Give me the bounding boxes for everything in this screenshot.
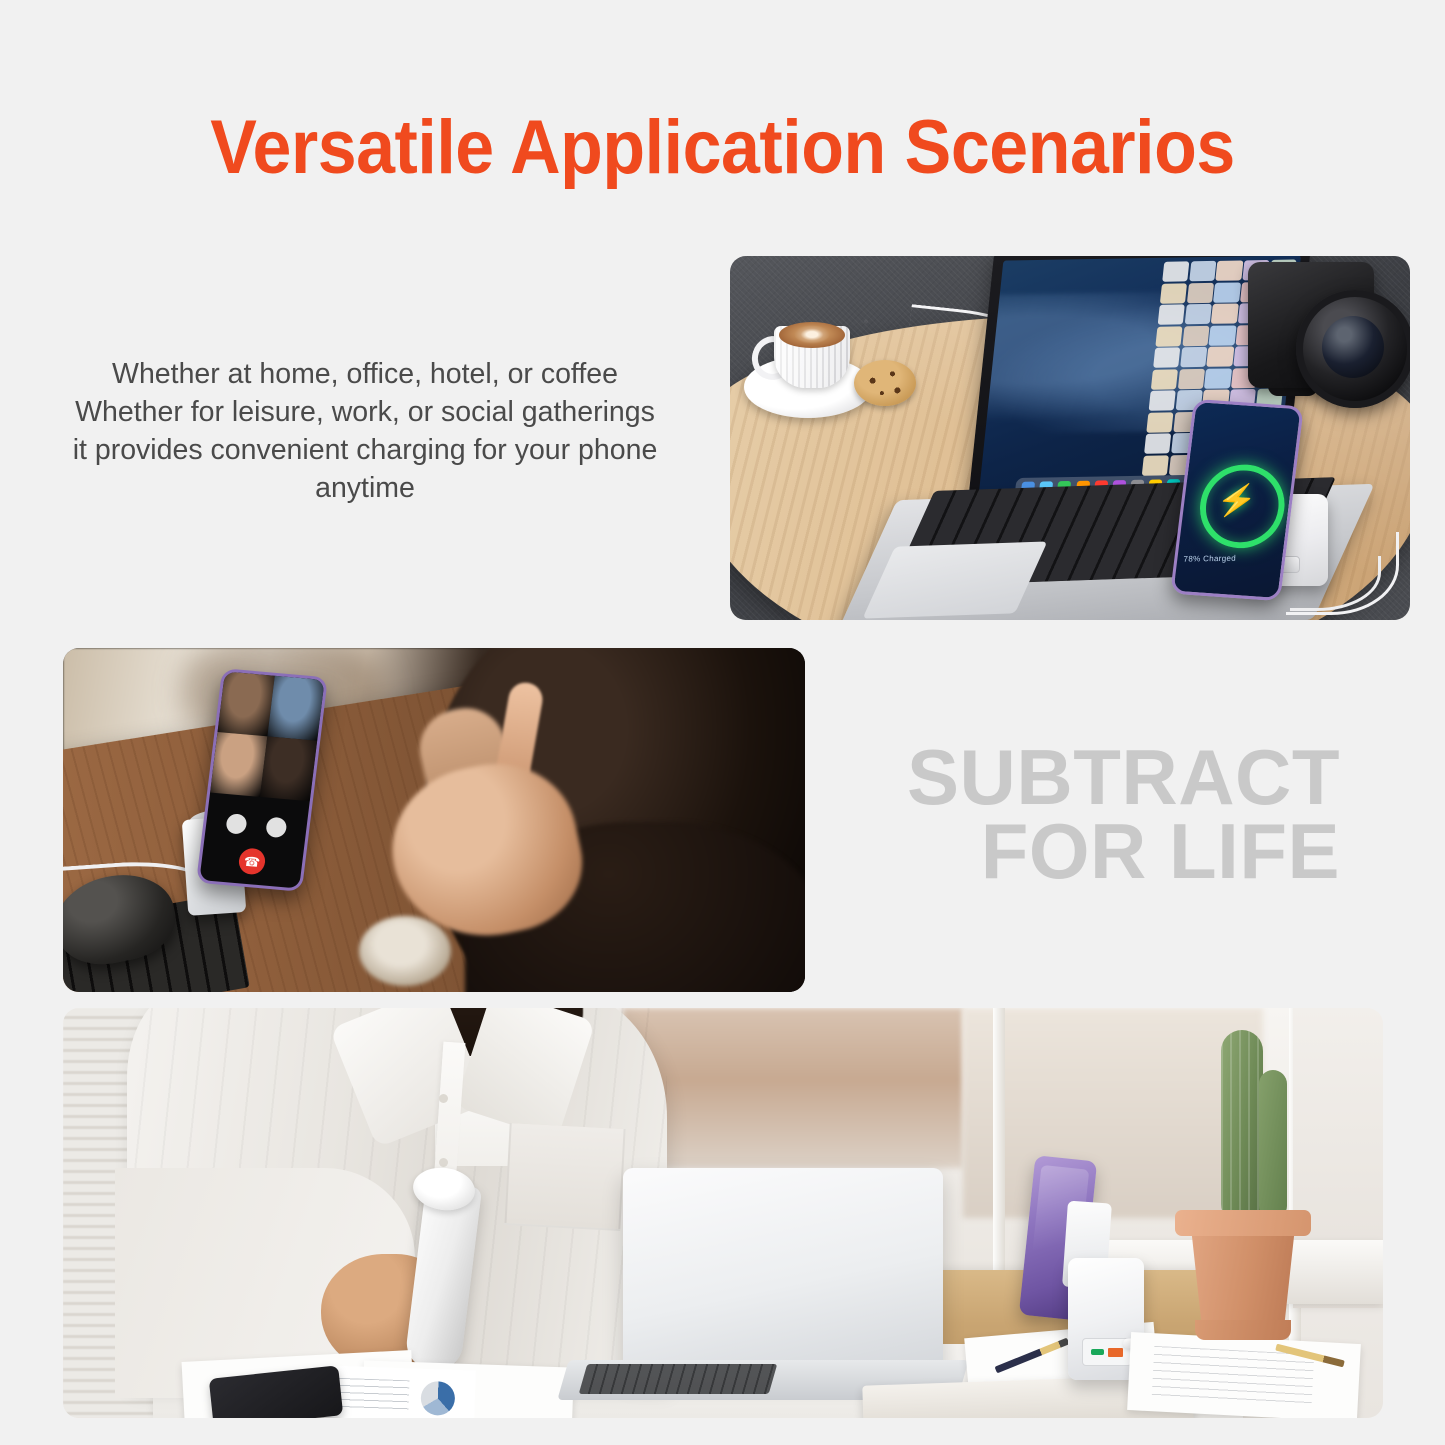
desktop-file-icon	[1207, 346, 1234, 366]
usb-a-port-icon	[1108, 1348, 1123, 1357]
desktop-file-icon	[1209, 325, 1236, 345]
desktop-file-icon	[1146, 412, 1173, 432]
desktop-file-icon	[1211, 303, 1238, 323]
marketing-page: Versatile Application Scenarios Whether …	[0, 0, 1445, 1445]
desktop-file-icon	[1158, 304, 1185, 324]
scene-photo-coffee: ⚡ 78% Charged coffee	[730, 256, 1410, 620]
description-line-3: it provides convenient charging for your…	[20, 431, 710, 469]
description-line-2: Whether for leisure, work, or social gat…	[20, 393, 710, 431]
laptop-lid	[623, 1168, 943, 1374]
outside-sky-view	[963, 1008, 1263, 1218]
desktop-file-icon	[1151, 369, 1178, 389]
camera-lens	[1296, 290, 1410, 408]
desktop-file-icon	[1144, 433, 1171, 453]
paper-text-lines	[1152, 1346, 1314, 1404]
chart-printout	[324, 1365, 476, 1418]
cactus-arm	[1259, 1070, 1287, 1220]
terracotta-pot	[1183, 1220, 1303, 1330]
shirt-button-2	[439, 1158, 448, 1167]
desktop-file-icon	[1178, 368, 1205, 388]
description-line-4: anytime	[20, 469, 710, 507]
pot-saucer	[1195, 1320, 1291, 1340]
latte-art	[794, 325, 830, 344]
desktop-file-icon	[1184, 304, 1211, 324]
video-call-participant-grid	[210, 671, 325, 801]
end-call-button-icon[interactable]: ☎	[237, 847, 266, 875]
call-controls	[205, 806, 308, 844]
usb-c-port-icon	[1091, 1349, 1104, 1355]
shirt-pocket	[504, 1123, 625, 1231]
desktop-file-icon	[1187, 282, 1214, 302]
desktop-file-icon	[1180, 347, 1207, 367]
call-participant-tile	[260, 736, 317, 801]
desktop-file-icon	[1160, 283, 1187, 303]
page-title: Versatile Application Scenarios	[58, 104, 1387, 191]
slogan-line-2: FOR LIFE	[830, 814, 1340, 888]
pot-rim	[1175, 1210, 1311, 1236]
camera-button-icon[interactable]	[265, 817, 287, 839]
mute-button-icon[interactable]	[225, 813, 247, 835]
outside-building-view	[623, 1008, 963, 1168]
scene-photo-homes: ☎ Homes	[63, 648, 805, 992]
desktop-file-icon	[1216, 260, 1243, 280]
desktop-file-icon	[1155, 326, 1182, 346]
desktop-file-icon	[1153, 347, 1180, 367]
desktop-file-icon	[1142, 455, 1169, 475]
call-participant-tile	[218, 671, 275, 736]
lightning-bolt-icon: ⚡	[1215, 483, 1259, 518]
slogan-text: SUBTRACT FOR LIFE	[830, 740, 1340, 888]
desktop-file-icon	[1213, 282, 1240, 302]
shirt-button-1	[439, 1094, 448, 1103]
charge-status-text: 78% Charged	[1183, 554, 1236, 564]
desktop-file-icon	[1182, 325, 1209, 345]
call-participant-tile	[210, 732, 267, 797]
desktop-file-icon	[1189, 261, 1216, 281]
scene-photo-offices: Offices	[63, 1008, 1383, 1418]
cactus-plant	[1221, 1030, 1263, 1225]
description-line-1: Whether at home, office, hotel, or coffe…	[20, 355, 710, 393]
call-participant-tile	[267, 676, 324, 741]
desktop-file-icon	[1162, 261, 1189, 281]
desktop-file-icon	[1204, 368, 1231, 388]
desktop-file-icon	[1149, 390, 1176, 410]
wristwatch	[359, 916, 451, 986]
laptop-keyboard	[579, 1364, 778, 1394]
slogan-line-1: SUBTRACT	[830, 740, 1340, 814]
description-block: Whether at home, office, hotel, or coffe…	[20, 355, 710, 507]
